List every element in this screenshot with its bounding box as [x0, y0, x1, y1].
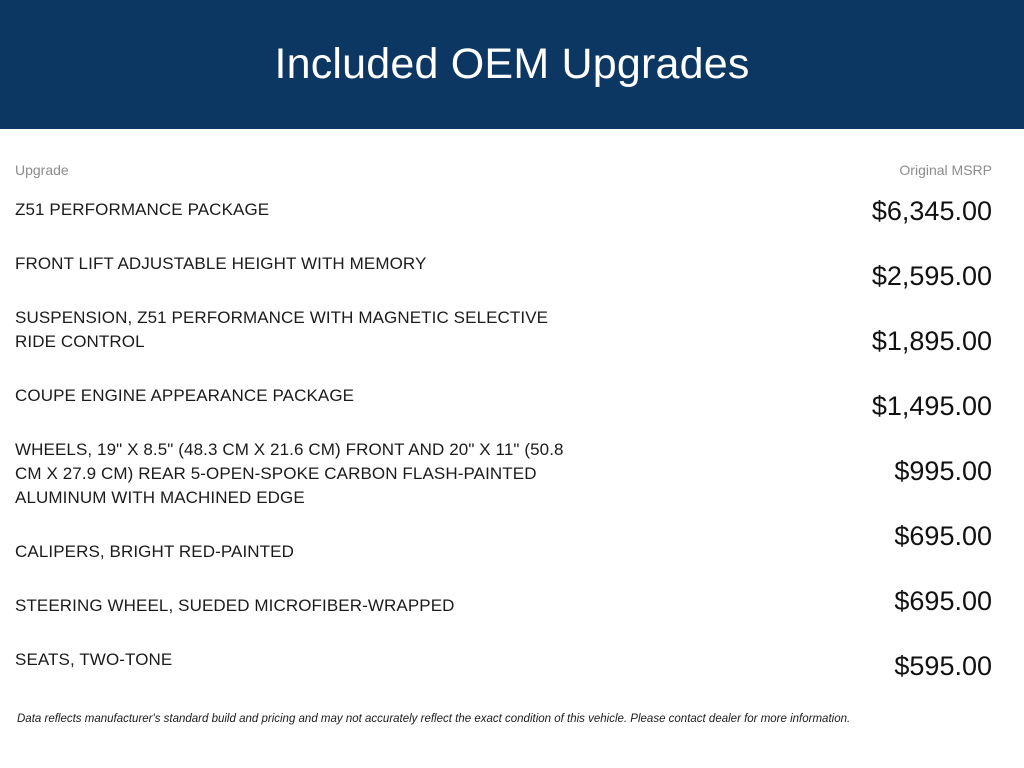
table-row: SEATS, TWO-TONE: [15, 648, 575, 672]
table-row: COUPE ENGINE APPEARANCE PACKAGE: [15, 384, 575, 408]
table-cell-price: $995.00: [732, 458, 992, 523]
column-header-upgrade: Upgrade: [15, 160, 69, 180]
table-row: WHEELS, 19" X 8.5" (48.3 CM X 21.6 CM) F…: [15, 438, 575, 510]
upgrade-labels-column: Z51 PERFORMANCE PACKAGE FRONT LIFT ADJUS…: [15, 198, 575, 672]
table-cell-price: $6,345.00: [732, 198, 992, 263]
table-row: STEERING WHEEL, SUEDED MICROFIBER-WRAPPE…: [15, 594, 575, 618]
table-cell-price: $595.00: [732, 653, 992, 718]
table-cell-price: $1,495.00: [732, 393, 992, 458]
table-cell-price: $695.00: [732, 588, 992, 653]
table-cell-price: $695.00: [732, 523, 992, 588]
table-row: FRONT LIFT ADJUSTABLE HEIGHT WITH MEMORY: [15, 252, 575, 276]
table-cell-price: $1,895.00: [732, 328, 992, 393]
column-header-original-msrp: Original MSRP: [899, 160, 992, 180]
table-row: CALIPERS, BRIGHT RED-PAINTED: [15, 540, 575, 564]
table-column-headers: Upgrade Original MSRP: [15, 160, 992, 180]
oem-upgrades-page: Included OEM Upgrades Upgrade Original M…: [0, 0, 1024, 768]
table-row: SUSPENSION, Z51 PERFORMANCE WITH MAGNETI…: [15, 306, 575, 354]
page-header-banner: Included OEM Upgrades: [0, 0, 1024, 129]
table-cell-price: $2,595.00: [732, 263, 992, 328]
disclaimer-text: Data reflects manufacturer's standard bu…: [17, 711, 1007, 727]
upgrades-table: Z51 PERFORMANCE PACKAGE FRONT LIFT ADJUS…: [0, 198, 1024, 698]
msrp-prices-column: $6,345.00 $2,595.00 $1,895.00 $1,495.00 …: [732, 198, 992, 718]
page-title: Included OEM Upgrades: [274, 43, 749, 86]
table-row: Z51 PERFORMANCE PACKAGE: [15, 198, 575, 222]
